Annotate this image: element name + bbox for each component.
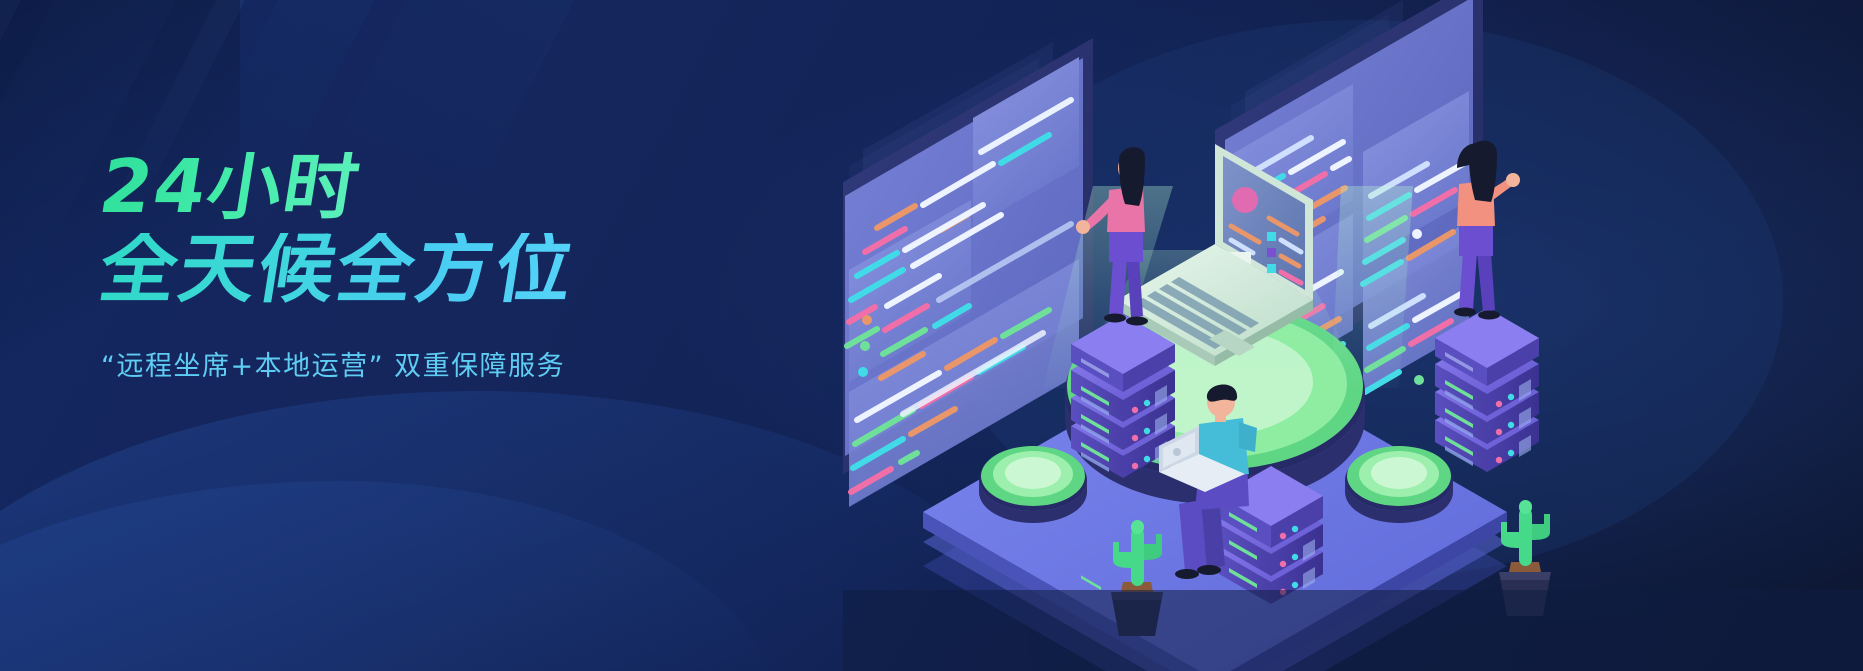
headline-line-2-text: 全天候全方位 xyxy=(95,233,581,306)
headline-line-1-text: 24小时 xyxy=(95,152,365,223)
small-glow-disc-right xyxy=(1345,446,1453,523)
server-stack-right xyxy=(1435,308,1539,472)
small-glow-disc-left xyxy=(979,446,1087,523)
laptop-logo xyxy=(1173,448,1181,456)
shoe-back xyxy=(1126,317,1148,326)
illustration-isometric-scene xyxy=(843,0,1863,671)
subtitle: “远程坐席+本地运营” 双重保障服务 xyxy=(101,344,855,383)
shoe-near xyxy=(1175,569,1199,579)
pad-left-glow-inner xyxy=(1005,457,1061,489)
headline-line-1: 24小时 xyxy=(95,152,866,223)
shoe-front xyxy=(1104,314,1126,323)
hand xyxy=(1076,220,1090,234)
cactus-trunk xyxy=(1131,528,1144,586)
hand xyxy=(1506,173,1520,187)
cactus-trunk xyxy=(1519,508,1532,566)
headline-line-2: 全天候全方位 xyxy=(95,233,867,306)
pad-right-glow-inner xyxy=(1371,457,1427,489)
hero-banner: 24小时 全天候全方位 “远程坐席+本地运营” 双重保障服务 xyxy=(0,0,1863,671)
scene-bottom-fade xyxy=(843,590,1863,671)
cactus-tip xyxy=(1519,500,1532,514)
pot-rim xyxy=(1499,572,1551,580)
laptop-screen-avatar xyxy=(1232,187,1258,213)
shoe-far xyxy=(1197,565,1221,575)
headline-block: 24小时 全天候全方位 “远程坐席+本地运营” 双重保障服务 xyxy=(95,152,855,383)
shoe-back xyxy=(1478,311,1500,320)
cactus-tip xyxy=(1131,520,1144,534)
shoe-front xyxy=(1454,308,1476,317)
